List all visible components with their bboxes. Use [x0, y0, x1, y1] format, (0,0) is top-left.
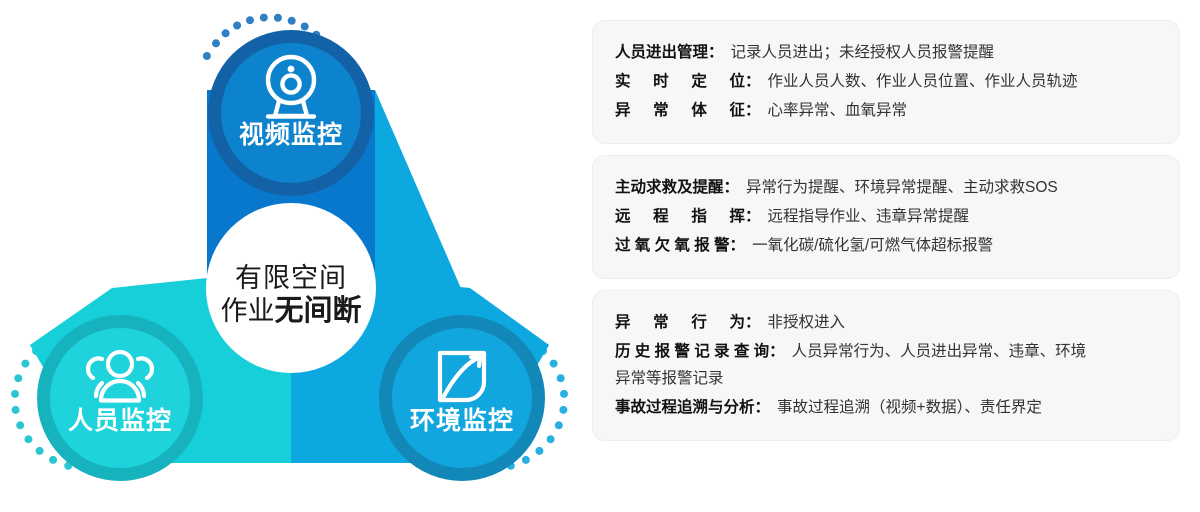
center-text-line1: 有限空间: [235, 263, 347, 293]
card-row: 异常行为： 非授权进入: [615, 312, 1157, 334]
row-colon: ：: [745, 206, 761, 228]
card-row: 人员进出管理： 记录人员进出；未经授权人员报警提醒: [615, 42, 1157, 64]
node-personnel-fill: [50, 328, 190, 468]
node-environment-label: 环境监控: [410, 406, 514, 435]
row-label: 过 氧 欠 氧 报 警: [615, 235, 730, 257]
card-row: 过 氧 欠 氧 报 警： 一氧化碳/硫化氢/可燃气体超标报警: [615, 235, 1157, 257]
node-video-label: 视频监控: [239, 121, 343, 149]
row-value: 作业人员人数、作业人员位置、作业人员轨迹: [768, 71, 1157, 93]
row-value: 心率异常、血氧异常: [768, 100, 1157, 122]
row-value: 记录人员进出；未经授权人员报警提醒: [731, 42, 1157, 64]
card-alarm: 异常行为： 非授权进入 历 史 报 警 记 录 查 询： 人员异常行为、人员进出…: [592, 290, 1180, 441]
row-continuation-text: 异常等报警记录: [615, 368, 724, 390]
row-colon: ：: [745, 71, 761, 93]
node-personnel[interactable]: 人员监控: [37, 315, 203, 481]
node-video[interactable]: 视频监控: [208, 30, 374, 196]
row-value: 一氧化碳/硫化氢/可燃气体超标报警: [752, 235, 1157, 257]
node-personnel-label: 人员监控: [68, 407, 172, 435]
node-environment[interactable]: 环境监控: [379, 315, 545, 481]
card-row-continuation: 异常等报警记录: [615, 368, 1157, 390]
feature-cards: 人员进出管理： 记录人员进出；未经授权人员报警提醒 实时定位： 作业人员人数、作…: [592, 0, 1180, 512]
row-colon: ：: [769, 341, 785, 363]
row-value: 人员异常行为、人员进出异常、违章、环境: [792, 341, 1157, 363]
center-text-line2-bold: 无间断: [274, 294, 361, 327]
row-label: 主动求救及提醒: [615, 177, 724, 199]
row-label: 事故过程追溯与分析: [615, 397, 755, 419]
card-personnel: 人员进出管理： 记录人员进出；未经授权人员报警提醒 实时定位： 作业人员人数、作…: [592, 20, 1180, 144]
row-label: 历 史 报 警 记 录 查 询: [615, 341, 769, 363]
row-colon: ：: [730, 235, 746, 257]
card-row: 实时定位： 作业人员人数、作业人员位置、作业人员轨迹: [615, 71, 1157, 93]
center-text-line2: 作业无间断: [220, 294, 361, 327]
row-label: 实时定位: [615, 71, 745, 93]
row-label: 异常行为: [615, 312, 745, 334]
pinwheel-diagram: 视频监控 人员监控 环境监控 有限空间 作业无间断: [0, 0, 580, 512]
card-row: 异常体征： 心率异常、血氧异常: [615, 100, 1157, 122]
row-value: 异常行为提醒、环境异常提醒、主动求救SOS: [746, 177, 1157, 199]
row-value: 非授权进入: [768, 312, 1157, 334]
card-row: 事故过程追溯与分析： 事故过程追溯（视频+数据）、责任界定: [615, 397, 1157, 419]
row-colon: ：: [755, 397, 771, 419]
row-value: 远程指导作业、违章异常提醒: [768, 206, 1157, 228]
card-row: 历 史 报 警 记 录 查 询： 人员异常行为、人员进出异常、违章、环境: [615, 341, 1157, 363]
row-colon: ：: [724, 177, 740, 199]
row-colon: ：: [745, 100, 761, 122]
card-rescue: 主动求救及提醒： 异常行为提醒、环境异常提醒、主动求救SOS 远程指挥： 远程指…: [592, 155, 1180, 279]
row-label: 异常体征: [615, 100, 745, 122]
row-colon: ：: [745, 312, 761, 334]
row-colon: ：: [708, 42, 724, 64]
row-label: 人员进出管理: [615, 42, 708, 64]
node-video-fill: [221, 43, 361, 183]
card-row: 主动求救及提醒： 异常行为提醒、环境异常提醒、主动求救SOS: [615, 177, 1157, 199]
center-text-line2-normal: 作业: [220, 296, 274, 326]
card-row: 远程指挥： 远程指导作业、违章异常提醒: [615, 206, 1157, 228]
row-label: 远程指挥: [615, 206, 745, 228]
row-value: 事故过程追溯（视频+数据）、责任界定: [777, 397, 1157, 419]
